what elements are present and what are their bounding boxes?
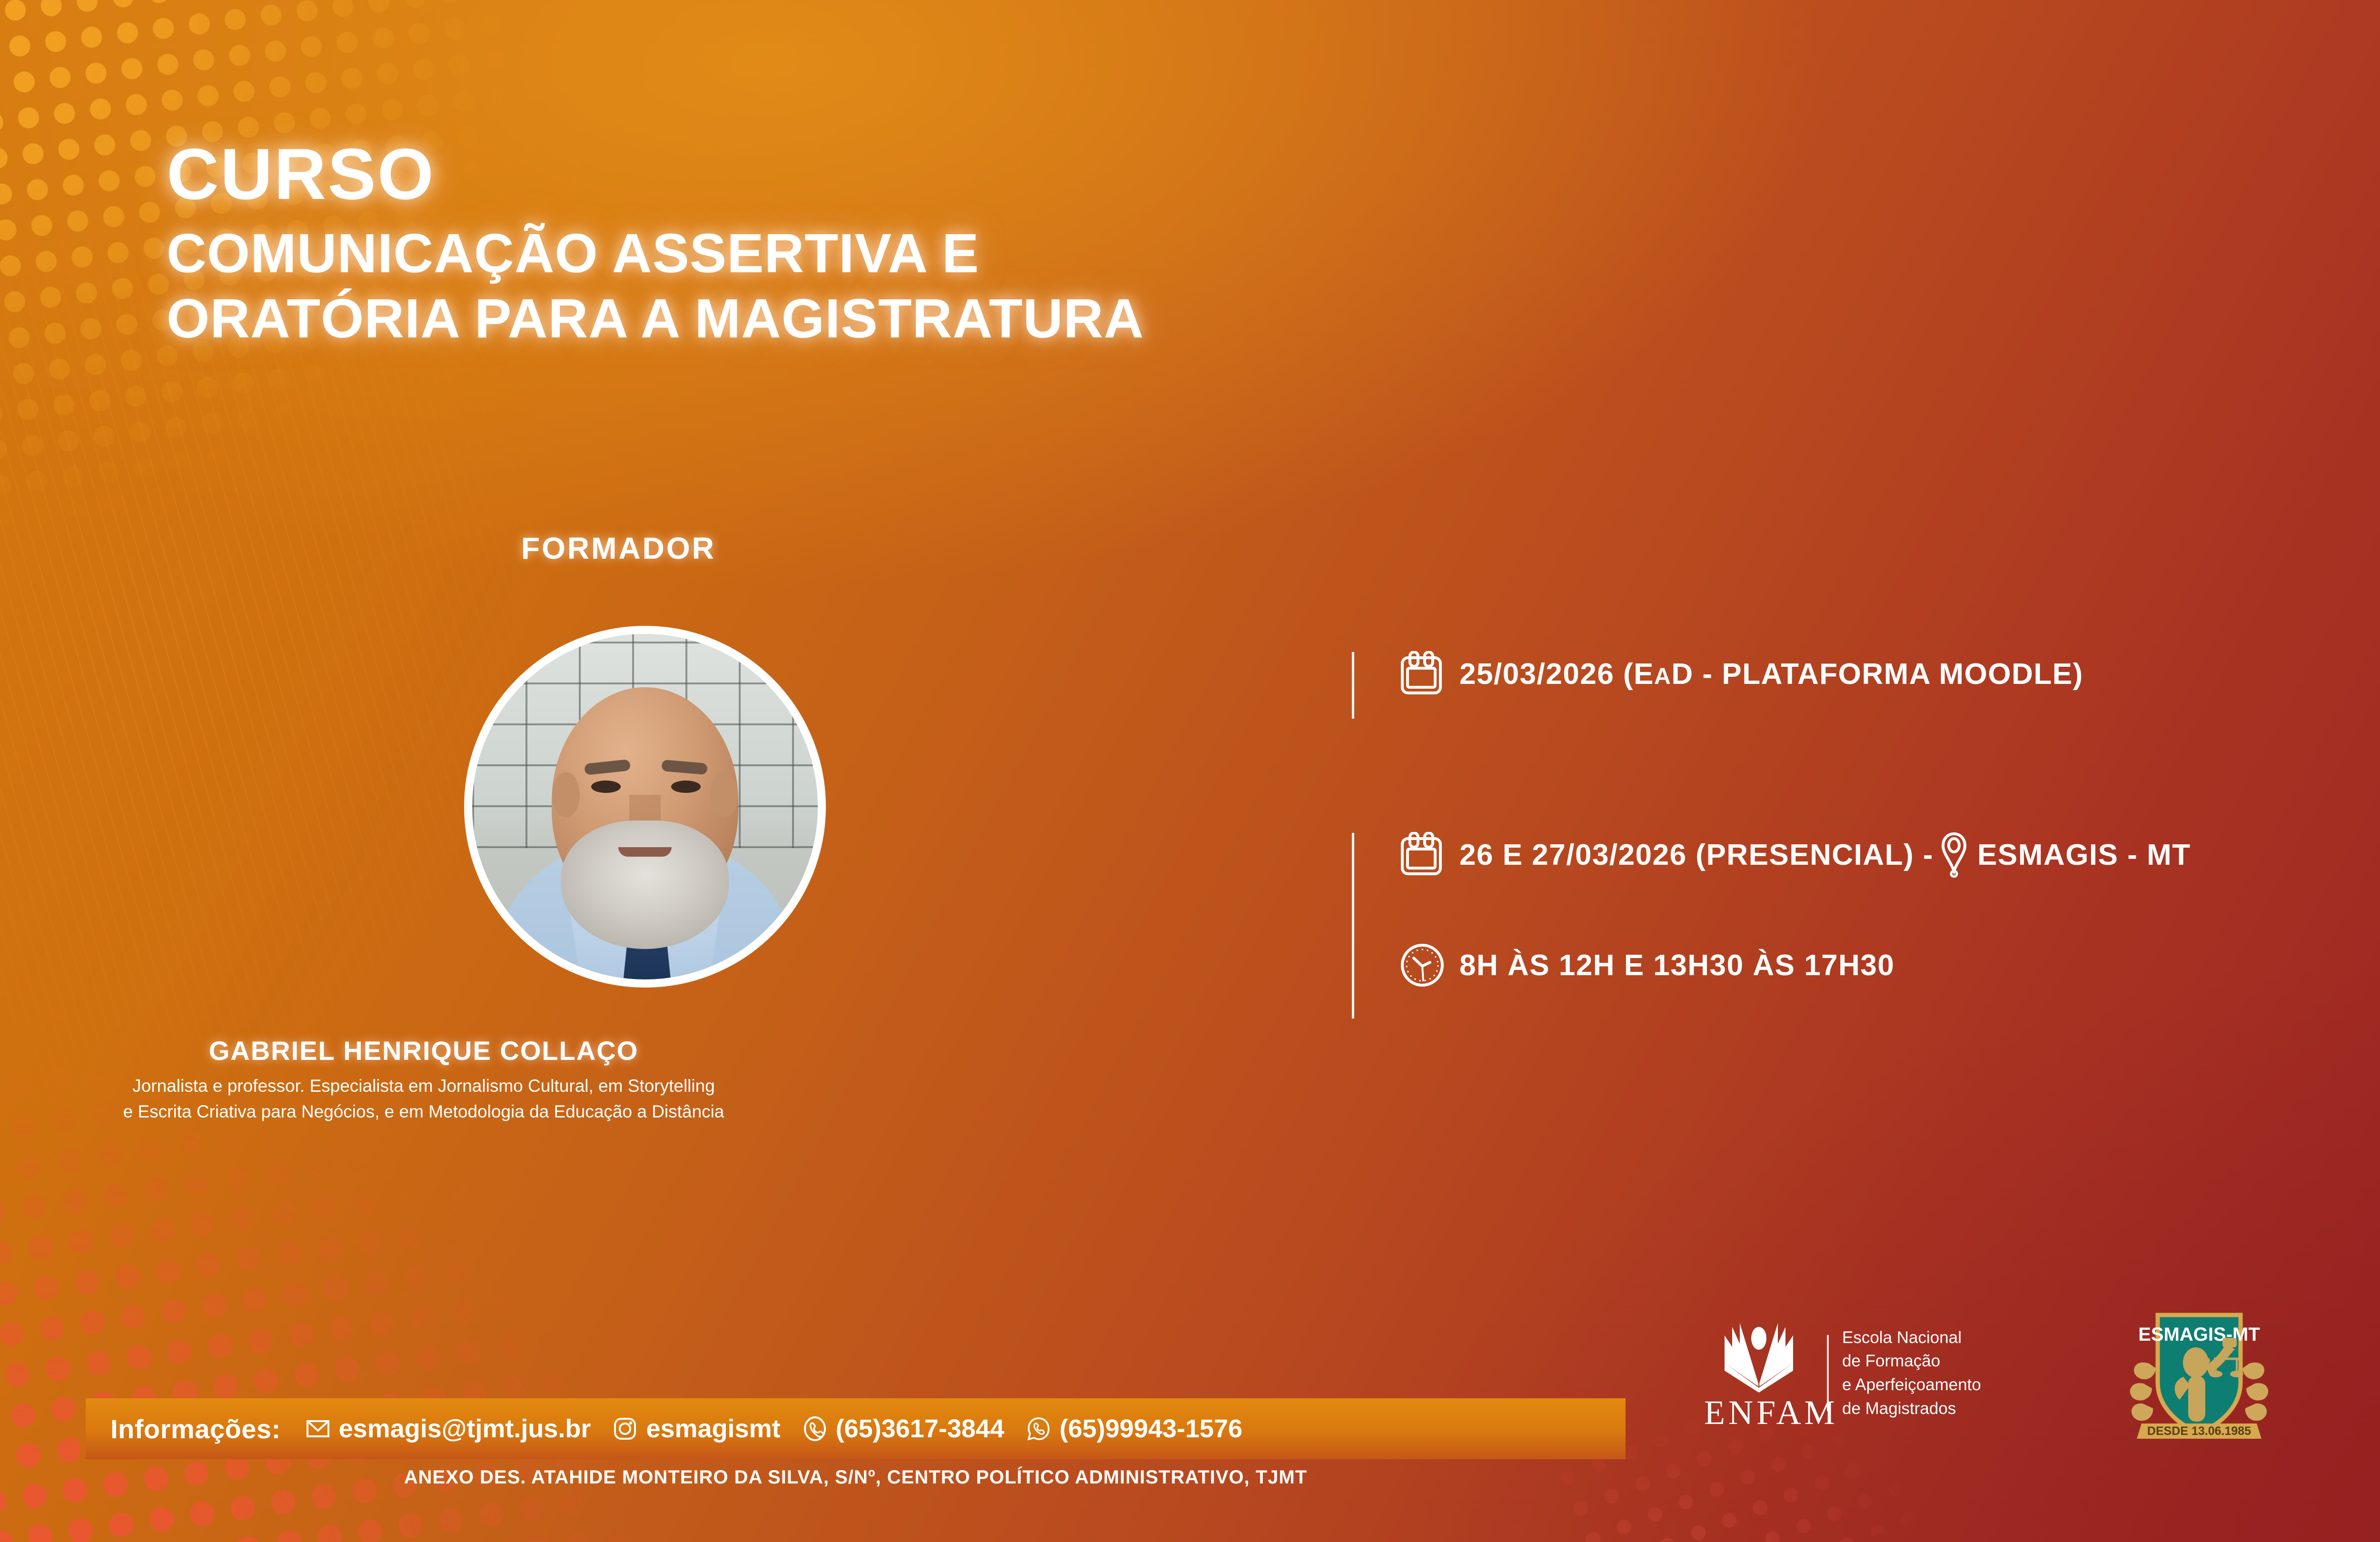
title-block: CURSO COMUNICAÇÃO ASSERTIVA E ORATÓRIA P… (167, 138, 1595, 351)
schedule-row-presential: 26 E 27/03/2026 (PRESENCIAL) - ESMAGIS -… (1399, 832, 2191, 878)
schedule-row-online: 25/03/2026 (EAD - PLATAFORMA MOODLE) (1399, 651, 2083, 697)
enfam-divider (1827, 1335, 1829, 1411)
esmagis-ribbon: DESDE 13.06.1985 (2147, 1424, 2251, 1438)
enfam-book-icon (1711, 1314, 1806, 1394)
enfam-tagline-line4: de Magistrados (1842, 1397, 1981, 1421)
calendar-icon (1399, 651, 1443, 697)
presenter-photo (464, 626, 826, 988)
time-text: 8H ÀS 12H E 13H30 ÀS 17H30 (1459, 949, 1894, 982)
contact-label: Informações: (110, 1413, 281, 1444)
contact-email-text: esmagis@tjmt.jus.br (339, 1414, 591, 1443)
enfam-tagline-line1: Escola Nacional (1842, 1326, 1981, 1350)
esmagis-logo: ESMAGIS-MT DESDE 13.06.1985 (2121, 1292, 2278, 1449)
contact-phone[interactable]: (65)3617-3844 (803, 1414, 1004, 1443)
presential-date-text: 26 E 27/03/2026 (PRESENCIAL) - (1459, 838, 1934, 872)
tjmt-line1: Tribunal de Justiça (2351, 1390, 2380, 1417)
schedule-row-time: 8H ÀS 12H E 13H30 ÀS 17H30 (1399, 942, 1894, 988)
presential-location-text: ESMAGIS - MT (1977, 838, 2191, 872)
presenter-bio-line2: e Escrita Criativa para Negócios, e em M… (38, 1099, 809, 1125)
promotional-banner: CURSO COMUNICAÇÃO ASSERTIVA E ORATÓRIA P… (0, 0, 2380, 1542)
tjmt-line2: do Estado de Mato Grosso (2351, 1418, 2380, 1437)
tjmt-logo: LEX SUUM CUIQUE TRIBUERE Tribunal de Jus… (2351, 1287, 2380, 1437)
location-pin-icon (1940, 832, 1968, 878)
kicker-curso: CURSO (167, 138, 1595, 210)
contact-whatsapp-text: (65)99943-1576 (1060, 1414, 1242, 1443)
address-line: ANEXO DES. ATAHIDE MONTEIRO DA SILVA, S/… (86, 1467, 1626, 1488)
enfam-tagline-line2: de Formação (1842, 1349, 1981, 1373)
contact-instagram[interactable]: esmagismt (613, 1414, 780, 1443)
clock-icon (1399, 942, 1445, 988)
contact-bar: Informações: esmagis@tjmt.jus.br esmagis… (86, 1398, 1626, 1459)
whatsapp-icon (1026, 1416, 1051, 1441)
calendar-icon (1399, 832, 1443, 878)
course-title-line2: ORATÓRIA PARA A MAGISTRATURA (167, 286, 1595, 351)
enfam-tagline-line3: e Aperfeiçoamento (1842, 1373, 1981, 1397)
enfam-tagline: Escola Nacional de Formação e Aperfeiçoa… (1842, 1326, 1981, 1421)
esmagis-shield-icon: ESMAGIS-MT DESDE 13.06.1985 (2121, 1292, 2278, 1449)
enfam-wordmark: ENFAM (1704, 1393, 1814, 1433)
presenter-name: GABRIEL HENRIQUE COLLAÇO (57, 1035, 790, 1066)
online-date-part1: 25/03/2026 (E (1459, 658, 1654, 691)
contact-whatsapp[interactable]: (65)99943-1576 (1026, 1414, 1242, 1443)
divider-presential-left (1352, 833, 1354, 1018)
online-date-part2: D - PLATAFORMA MOODLE) (1671, 658, 2083, 691)
phone-icon (803, 1416, 827, 1441)
presenter-bio: Jornalista e professor. Especialista em … (38, 1073, 809, 1124)
instagram-icon (613, 1416, 637, 1441)
course-title-line1: COMUNICAÇÃO ASSERTIVA E (167, 221, 1595, 286)
envelope-icon (306, 1416, 330, 1441)
online-date-text: 25/03/2026 (EAD - PLATAFORMA MOODLE) (1459, 657, 2083, 691)
contact-phone-text: (65)3617-3844 (836, 1414, 1004, 1443)
online-date-small: A (1654, 663, 1671, 689)
divider-online-left (1352, 652, 1354, 719)
presenter-bio-line1: Jornalista e professor. Especialista em … (38, 1073, 809, 1099)
contact-email[interactable]: esmagis@tjmt.jus.br (306, 1414, 591, 1443)
presenter-role-label: FORMADOR (521, 531, 716, 566)
enfam-logo: ENFAM Escola Nacional de Formação e Aper… (1704, 1314, 1981, 1433)
contact-instagram-text: esmagismt (646, 1414, 780, 1443)
esmagis-name: ESMAGIS-MT (2138, 1324, 2260, 1345)
